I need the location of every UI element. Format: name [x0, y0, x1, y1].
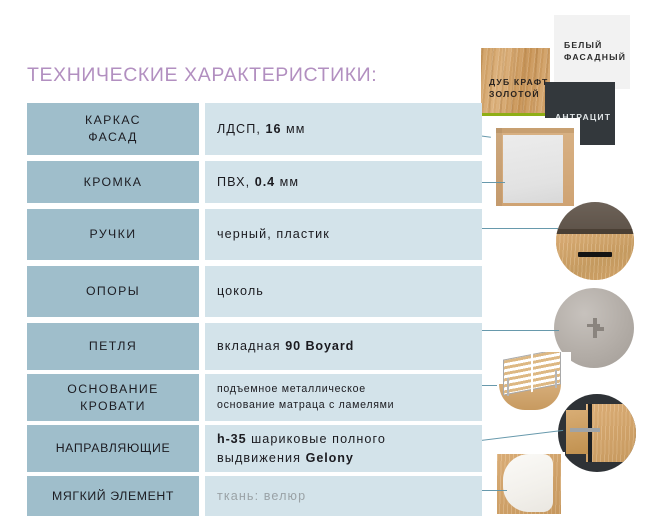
table-row: МЯГКИЙ ЭЛЕМЕНТ ткань: велюр — [27, 476, 482, 516]
spec-label-ruchki: РУЧКИ — [27, 209, 199, 260]
spec-label-myagkiy-element: МЯГКИЙ ЭЛЕМЕНТ — [27, 476, 199, 516]
spec-label-kromka: КРОМКА — [27, 161, 199, 203]
spec-value-karkas-fasad: ЛДСП, 16 мм — [205, 103, 482, 155]
spec-value-napravlyayushchie: h-35 шариковые полного выдвижения Gelony — [205, 425, 482, 472]
spec-sheet-page: ТЕХНИЧЕСКИЕ ХАРАКТЕРИСТИКИ: ДУБ КРАФТ ЗО… — [0, 0, 645, 517]
cabinet-white-door-photo — [490, 118, 580, 208]
spec-label-line: ФАСАД — [88, 130, 138, 144]
swatch-white-label: БЕЛЫЙ ФАСАДНЫЙ — [564, 39, 626, 64]
page-title: ТЕХНИЧЕСКИЕ ХАРАКТЕРИСТИКИ: — [27, 64, 377, 87]
table-row: ОСНОВАНИЕ КРОВАТИ подъемное металлическо… — [27, 374, 482, 421]
spec-label-opory: ОПОРЫ — [27, 266, 199, 317]
table-row: НАПРАВЛЯЮЩИЕ h-35 шариковые полного выдв… — [27, 425, 482, 472]
spec-label-line: КАРКАС — [85, 113, 141, 127]
swatch-white-facade: БЕЛЫЙ ФАСАДНЫЙ — [554, 15, 630, 89]
spec-value-petlya: вкладная 90 Boyard — [205, 323, 482, 370]
spec-value-myagkiy-element: ткань: велюр — [205, 476, 482, 516]
swatch-oak-craft-gold: ДУБ КРАФТ ЗОЛОТОЙ — [481, 48, 550, 116]
drawer-slide-photo — [558, 394, 636, 472]
lift-up-bed-base-photo — [489, 352, 571, 414]
spec-label-napravlyayushchie: НАПРАВЛЯЮЩИЕ — [27, 425, 199, 472]
table-row: РУЧКИ черный, пластик — [27, 209, 482, 260]
spec-label-osnovanie-krovati: ОСНОВАНИЕ КРОВАТИ — [27, 374, 199, 421]
spec-value-kromka: ПВХ, 0.4 мм — [205, 161, 482, 203]
soft-velour-panel-photo — [493, 452, 565, 516]
table-row: ПЕТЛЯ вкладная 90 Boyard — [27, 323, 482, 370]
spec-value-opory: цоколь — [205, 266, 482, 317]
spec-value-ruchki: черный, пластик — [205, 209, 482, 260]
table-row: ОПОРЫ цоколь — [27, 266, 482, 317]
spec-label-petlya: ПЕТЛЯ — [27, 323, 199, 370]
table-row: КРОМКА ПВХ, 0.4 мм — [27, 161, 482, 203]
spec-value-osnovanie-krovati: подъемное металлическое основание матрац… — [205, 374, 482, 421]
black-handle-photo — [556, 202, 634, 280]
swatch-oak-label: ДУБ КРАФТ ЗОЛОТОЙ — [489, 76, 548, 101]
table-row: КАРКАС ФАСАД ЛДСП, 16 мм — [27, 103, 482, 155]
spec-label-karkas-fasad: КАРКАС ФАСАД — [27, 103, 199, 155]
